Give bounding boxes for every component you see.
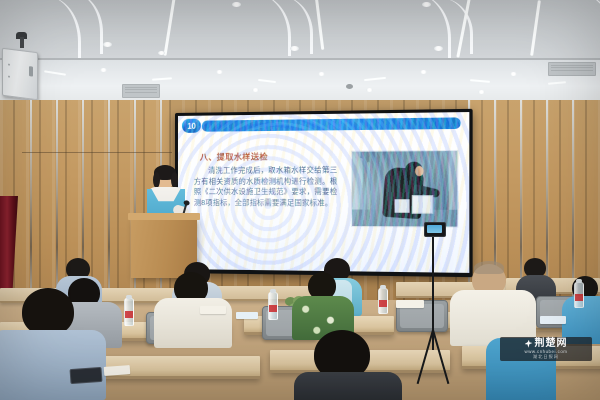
screen-surface: 10 八、提取水样送检 清洗工作完成后，取水箱水样交给第三方有相关资质的水质检测… [178, 112, 469, 273]
slide-body-text: 清洗工作完成后，取水箱水样交给第三方有相关资质的水质检测机构进行检测。根照《二次… [194, 165, 337, 208]
paper-handout-left [200, 306, 226, 314]
slide-page-badge: 10 [182, 119, 201, 133]
water-bottle-left [124, 298, 134, 326]
paper-handout-right [396, 300, 424, 308]
watermark: 荆楚网 www.cnhubei.com 湖北日报网 [500, 337, 592, 361]
paper-front-left [104, 365, 131, 376]
ceiling-vent-right [548, 62, 596, 76]
slide-photo [351, 150, 458, 228]
water-bottle-center [268, 292, 278, 320]
slide-content: 10 八、提取水样送检 清洗工作完成后，取水箱水样交给第三方有相关资质的水质检测… [178, 112, 469, 273]
slide-body-span: 清洗工作完成后，取水箱水样交给第三方有相关资质的水质检测机构进行检测。根照《二次… [194, 165, 337, 207]
presentation-screen: 10 八、提取水样送检 清洗工作完成后，取水箱水样交给第三方有相关资质的水质检测… [175, 109, 473, 277]
ceiling-vent [122, 84, 160, 98]
paper-handout-center [236, 312, 258, 319]
slide-heading: 八、提取水样送检 [200, 151, 268, 163]
bird-logo-icon [525, 340, 533, 348]
paper-handout-far-right [540, 316, 566, 324]
camera-on-tripod [424, 222, 446, 237]
wall-speaker [2, 48, 38, 100]
speaker-bracket [10, 32, 32, 48]
water-bottle-right [378, 288, 388, 314]
smartphone-on-desk [70, 367, 103, 384]
photo-scene: 10 八、提取水样送检 清洗工作完成后，取水箱水样交给第三方有相关资质的水质检测… [0, 0, 600, 400]
watermark-brand: 荆楚网 [535, 339, 568, 349]
watermark-sub: 湖北日报网 [533, 355, 559, 359]
slide-title-bar [202, 117, 461, 131]
ceiling [0, 0, 600, 108]
water-bottle-far-right [574, 282, 584, 308]
